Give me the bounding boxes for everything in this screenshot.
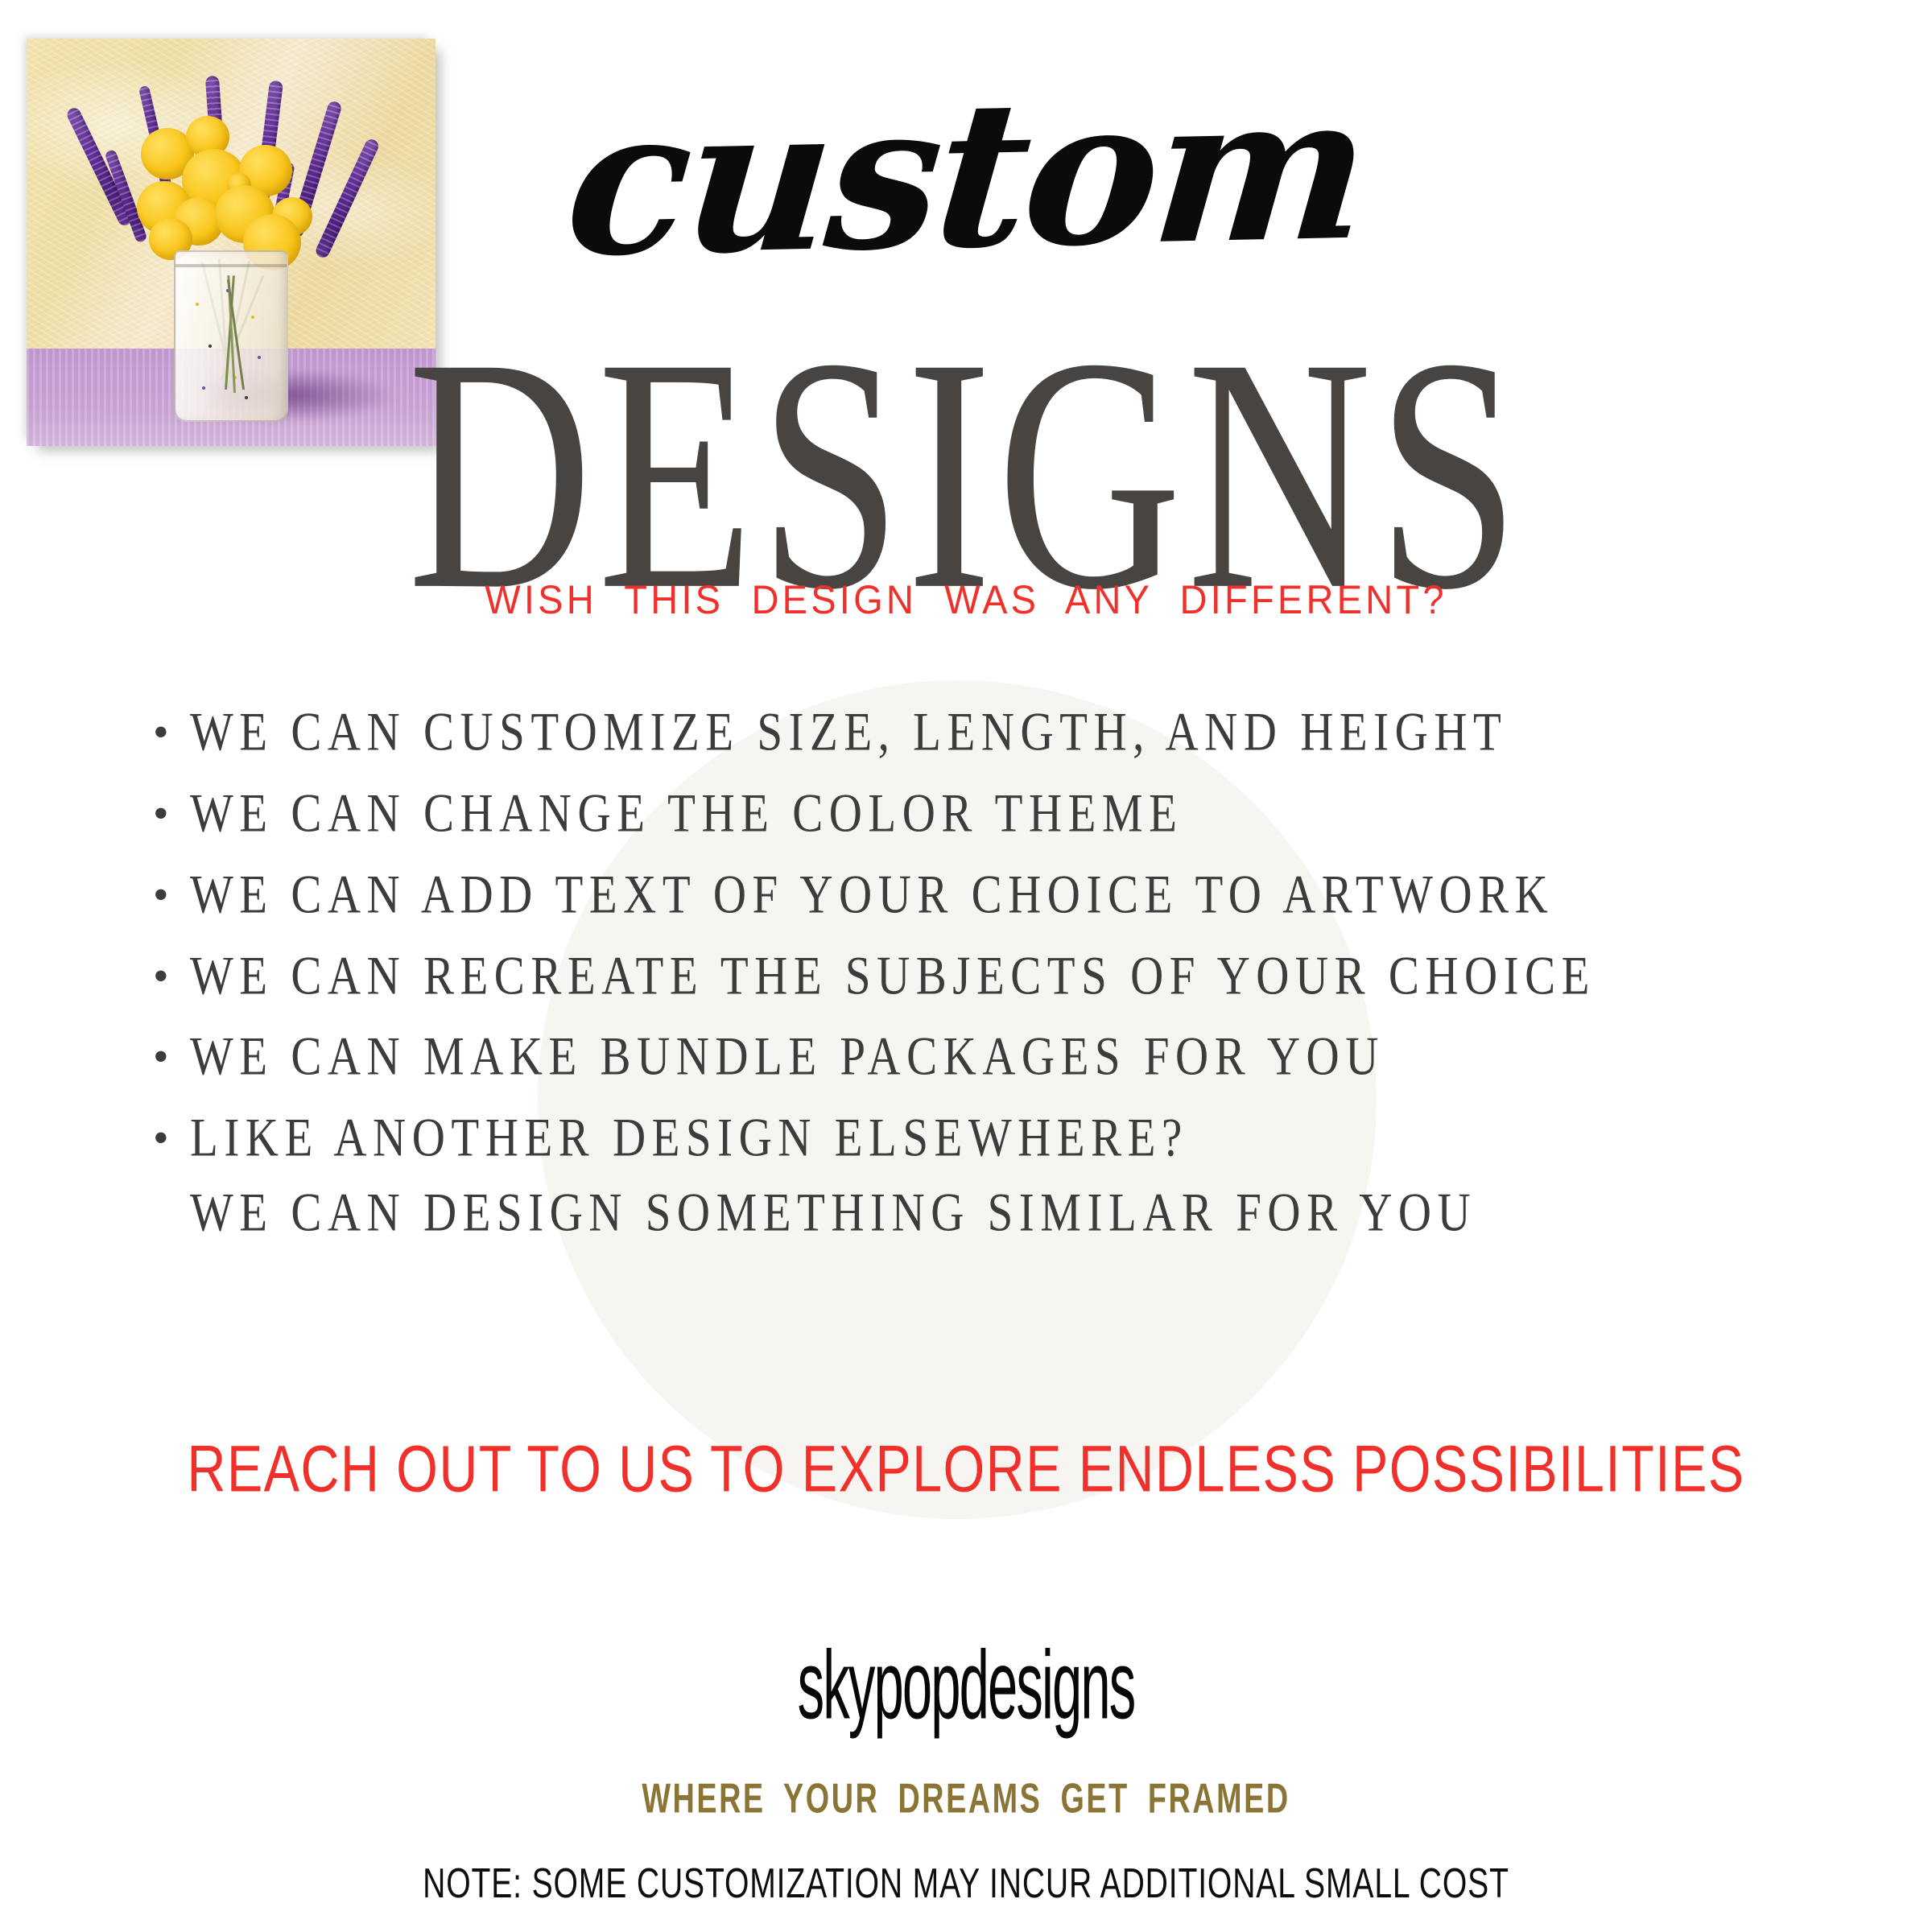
list-item-label: LIKE ANOTHER DESIGN ELSEWHERE? [190,1110,1188,1167]
bullet-dot-icon: • [153,873,190,918]
list-item: • WE CAN RECREATE THE SUBJECTS OF YOUR C… [153,952,1827,1001]
feature-list: • WE CAN CUSTOMIZE SIZE, LENGTH, AND HEI… [153,708,1827,1237]
bullet-dot-icon: • [153,791,190,836]
list-item-continuation: WE CAN DESIGN SOMETHING SIMILAR FOR YOU [190,1189,1827,1237]
list-item: • WE CAN CUSTOMIZE SIZE, LENGTH, AND HEI… [153,708,1827,757]
bullet-dot-icon: • [153,1034,190,1080]
subheading-question: WISH THIS DESIGN WAS ANY DIFFERENT? [58,576,1874,623]
list-item-label: WE CAN CHANGE THE COLOR THEME [190,785,1183,842]
list-item-label: WE CAN MAKE BUNDLE PACKAGES FOR YOU [190,1029,1385,1086]
poster-canvas: custom DESIGNS WISH THIS DESIGN WAS ANY … [0,0,1932,1932]
list-item-label: WE CAN RECREATE THE SUBJECTS OF YOUR CHO… [190,947,1596,1005]
list-item: • WE CAN CHANGE THE COLOR THEME [153,790,1827,838]
bullet-dot-icon: • [153,954,190,999]
bullet-dot-icon: • [153,1116,190,1161]
list-item: • WE CAN MAKE BUNDLE PACKAGES FOR YOU [153,1033,1827,1081]
list-item-label: WE CAN CUSTOMIZE SIZE, LENGTH, AND HEIGH… [190,704,1507,762]
list-item-continuation-label: WE CAN DESIGN SOMETHING SIMILAR FOR YOU [190,1185,1476,1242]
brand-tagline: WHERE YOUR DREAMS GET FRAMED [155,1774,1777,1823]
list-item: • LIKE ANOTHER DESIGN ELSEWHERE? [153,1114,1827,1162]
bullet-dot-icon: • [153,710,190,755]
brand-wordmark: skypopdesigns [367,1629,1565,1741]
script-headline-custom: custom [0,54,1932,295]
list-item: • WE CAN ADD TEXT OF YOUR CHOICE TO ARTW… [153,871,1827,919]
footnote-text: NOTE: SOME CUSTOMIZATION MAY INCUR ADDIT… [145,1859,1787,1907]
call-to-action-text: REACH OUT TO US TO EXPLORE ENDLESS POSSI… [97,1431,1835,1507]
list-item-label: WE CAN ADD TEXT OF YOUR CHOICE TO ARTWOR… [190,866,1554,923]
